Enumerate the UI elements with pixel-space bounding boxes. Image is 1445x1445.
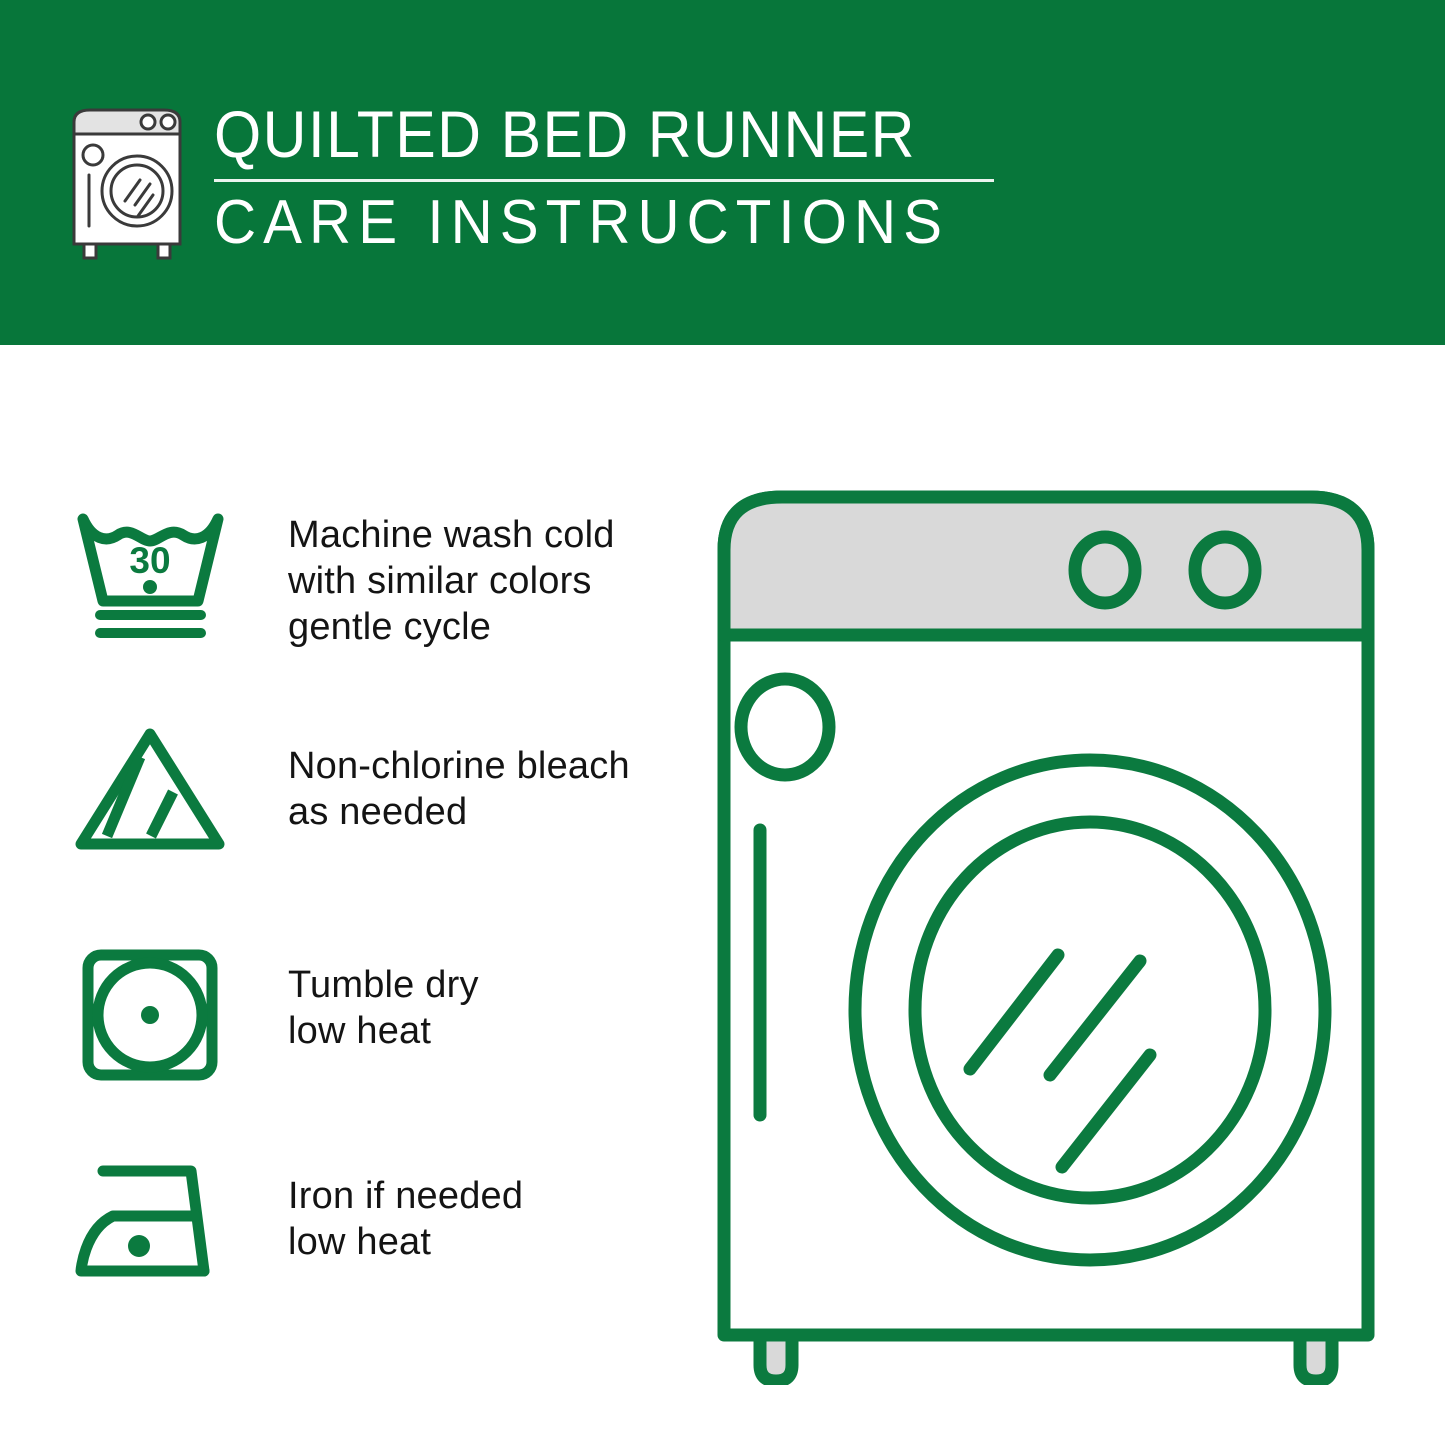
care-instructions-list: 30 Machine wash cold with similar colors… <box>0 345 660 1445</box>
svg-text:30: 30 <box>129 540 170 581</box>
iron-icon <box>70 1145 230 1295</box>
washing-machine-illustration <box>700 455 1430 1385</box>
title-divider <box>214 179 994 182</box>
care-item-bleach-label: Non-chlorine bleach as needed <box>288 743 630 835</box>
page-subtitle: CARE INSTRUCTIONS <box>214 188 949 258</box>
wash-tub-30-icon: 30 <box>70 500 230 650</box>
care-item-wash: 30 Machine wash cold with similar colors… <box>70 500 615 650</box>
header-banner: QUILTED BED RUNNER CARE INSTRUCTIONS <box>0 0 1445 345</box>
care-item-bleach: Non-chlorine bleach as needed <box>70 715 630 865</box>
bleach-triangle-icon <box>70 715 230 865</box>
page-title: QUILTED BED RUNNER <box>214 98 933 170</box>
care-item-wash-label: Machine wash cold with similar colors ge… <box>288 512 615 650</box>
header-title-block: QUILTED BED RUNNER CARE INSTRUCTIONS <box>214 92 996 258</box>
header-content: QUILTED BED RUNNER CARE INSTRUCTIONS <box>62 92 996 263</box>
care-item-tumble-dry: Tumble dry low heat <box>70 940 479 1090</box>
tumble-dry-icon <box>70 940 230 1090</box>
care-item-iron: Iron if needed low heat <box>70 1145 523 1295</box>
care-item-iron-label: Iron if needed low heat <box>288 1173 523 1265</box>
care-item-tumble-dry-label: Tumble dry low heat <box>288 962 479 1054</box>
washing-machine-icon <box>62 98 192 263</box>
